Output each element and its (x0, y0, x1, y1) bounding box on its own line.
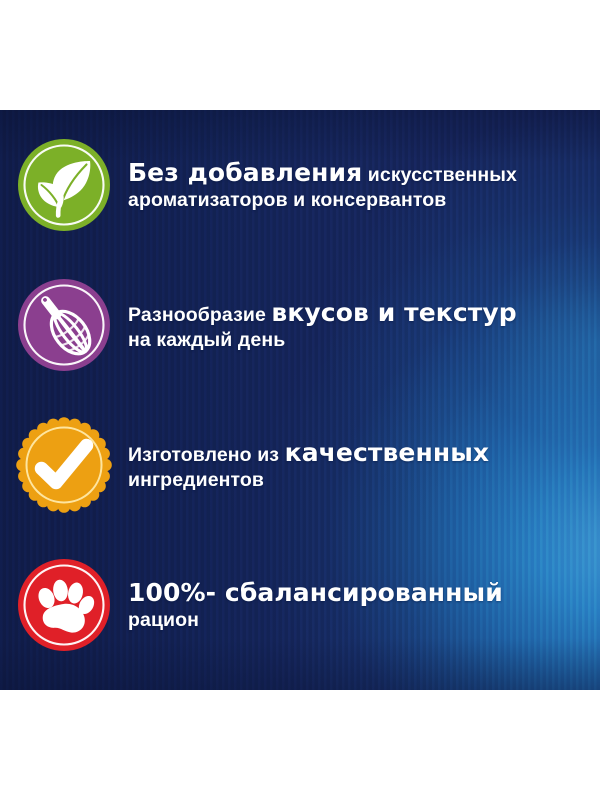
feature-lead-prefix: Разнообразие (128, 304, 271, 326)
feature-row-no-additives: Без добавления искусственных ароматизато… (0, 130, 600, 240)
feature-row-balanced-diet: 100%- сбалансированный рацион (0, 550, 600, 660)
feature-text: Без добавления искусственных ароматизато… (128, 159, 545, 211)
paw-icon (16, 557, 112, 653)
feature-text: Изготовлено из качественных ингредиентов (128, 439, 517, 491)
badge-wrap (0, 410, 128, 520)
feature-text: 100%- сбалансированный рацион (128, 579, 531, 631)
promo-panel: Без добавления искусственных ароматизато… (0, 110, 600, 690)
feature-emphasis-text: 100%- сбалансированный (128, 578, 503, 607)
feature-row-variety: Разнообразие вкусов и текстур на каждый … (0, 270, 600, 380)
feature-lead-rest: искусственных (362, 164, 517, 186)
feature-second-line: ингредиентов (128, 469, 264, 491)
badge-wrap (0, 270, 128, 380)
feature-lead-prefix: Изготовлено из (128, 444, 285, 466)
feature-second-line: ароматизаторов и консервантов (128, 189, 446, 211)
feature-emphasis-text: Без добавления (128, 158, 362, 187)
feature-second-line: рацион (128, 609, 199, 631)
badge-wrap (0, 130, 128, 240)
whisk-icon (16, 277, 112, 373)
feature-emphasis-text: качественных (285, 438, 490, 467)
feature-row-quality: Изготовлено из качественных ингредиентов (0, 410, 600, 520)
feature-text: Разнообразие вкусов и текстур на каждый … (128, 299, 545, 351)
feature-emphasis-text: вкусов и текстур (271, 298, 516, 327)
check-badge-icon (16, 417, 112, 513)
leaf-icon (16, 137, 112, 233)
feature-second-line: на каждый день (128, 329, 285, 351)
badge-wrap (0, 550, 128, 660)
